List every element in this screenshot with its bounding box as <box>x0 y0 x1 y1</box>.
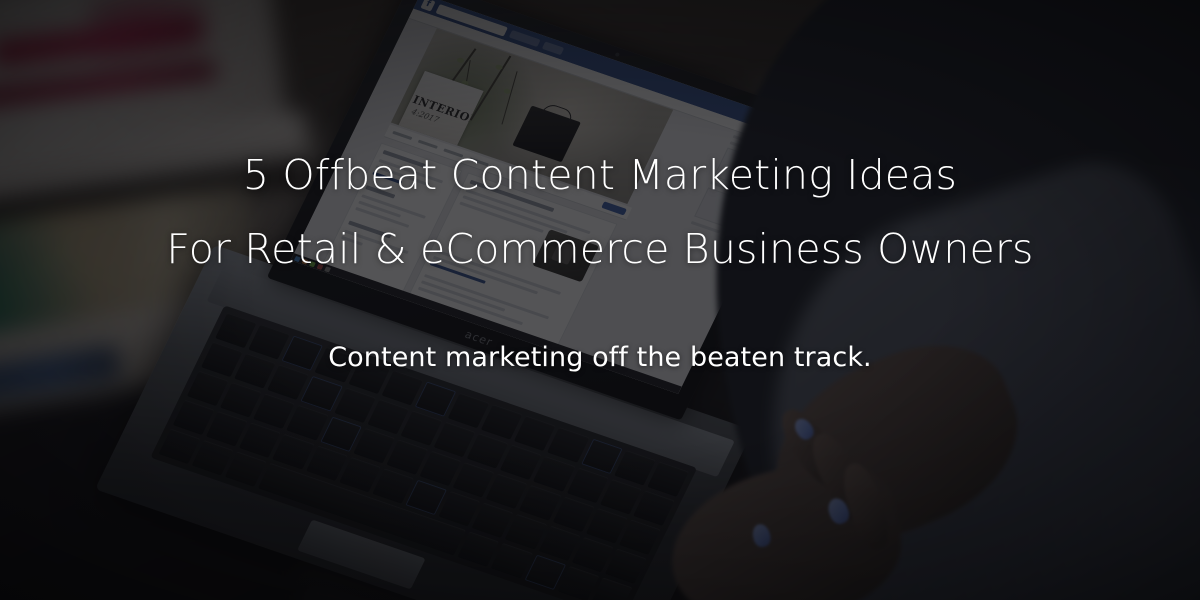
banner-text-layer: 5 Offbeat Content Marketing Ideas For Re… <box>0 0 1200 600</box>
headline-line-2: For Retail & eCommerce Business Owners <box>166 229 1033 270</box>
banner-image: f <box>0 0 1200 600</box>
headline-line-1: 5 Offbeat Content Marketing Ideas <box>243 155 957 196</box>
banner-subtitle: Content marketing off the beaten track. <box>328 342 872 373</box>
